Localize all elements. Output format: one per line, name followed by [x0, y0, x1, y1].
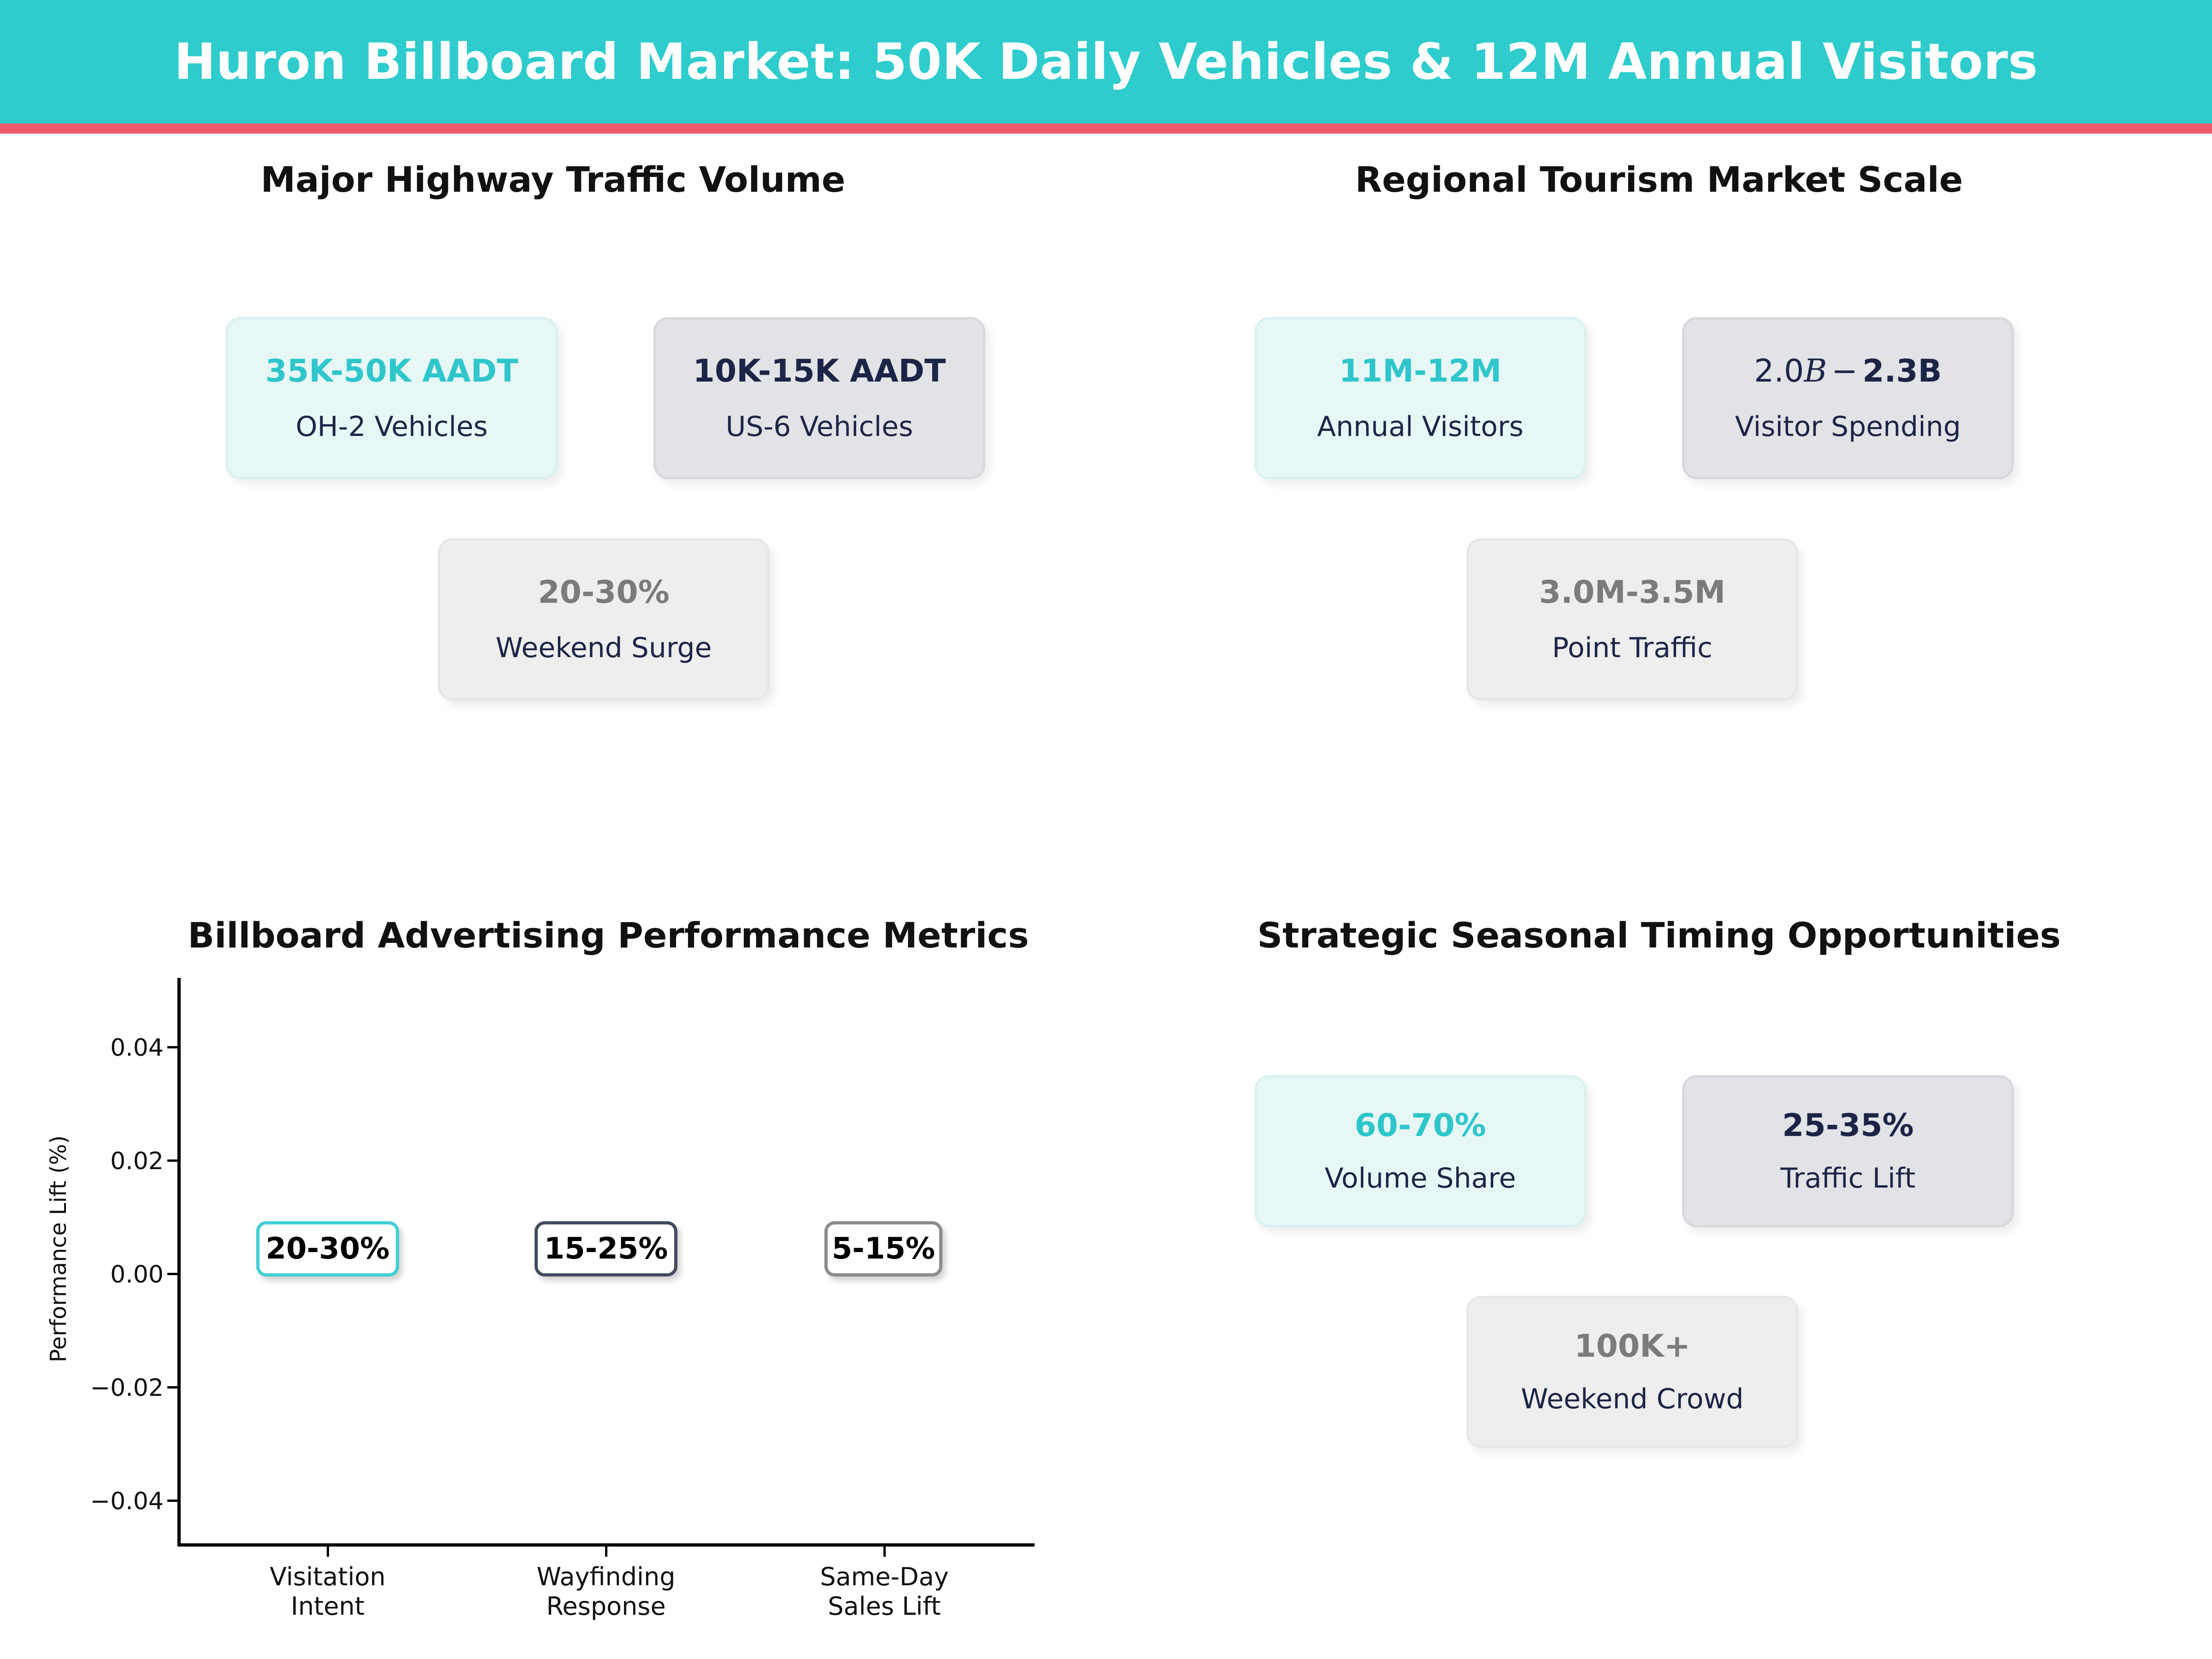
kpi-value: 10K-15K AADT [693, 355, 946, 388]
y-tick-label: −0.04 [44, 1488, 164, 1515]
chart-y-axis-spine [177, 978, 181, 1546]
header-divider [0, 124, 2212, 134]
x-tick-label-line1: Visitation [185, 1562, 471, 1592]
chart-x-axis-spine [177, 1543, 1035, 1547]
kpi-label: OH-2 Vehicles [295, 412, 488, 441]
kpi-card-visitor-spending[interactable]: 2.0B−2.3B Visitor Spending [1682, 317, 2014, 479]
kpi-card-point-traffic[interactable]: 3.0M-3.5M Point Traffic [1466, 538, 1798, 700]
x-tick-label-visitation-intent: Visitation Intent [185, 1562, 471, 1621]
kpi-value-dash: − [1827, 353, 1862, 389]
kpi-value: 35K-50K AADT [265, 355, 518, 388]
chart-annotation-visitation-intent[interactable]: 20-30% [256, 1221, 399, 1277]
page-title: Huron Billboard Market: 50K Daily Vehicl… [0, 0, 2212, 124]
y-tick-mark [167, 1500, 177, 1502]
x-tick-label-line2: Sales Lift [741, 1592, 1027, 1621]
kpi-value: 3.0M-3.5M [1539, 576, 1725, 609]
kpi-value-italic: B [1804, 353, 1827, 389]
kpi-label: Volume Share [1324, 1164, 1516, 1193]
kpi-card-oh2-vehicles[interactable]: 35K-50K AADT OH-2 Vehicles [226, 317, 558, 479]
kpi-card-weekend-surge[interactable]: 20-30% Weekend Surge [438, 538, 770, 700]
x-tick-label-line1: Wayfinding [463, 1562, 749, 1592]
kpi-card-annual-visitors[interactable]: 11M-12M Annual Visitors [1254, 317, 1586, 479]
y-tick-label: 0.00 [44, 1261, 164, 1288]
kpi-label: Weekend Surge [495, 634, 712, 663]
x-tick-label-line2: Intent [185, 1592, 471, 1621]
y-tick-label: 0.02 [44, 1147, 164, 1175]
x-tick-label-same-day-sales-lift: Same-Day Sales Lift [741, 1562, 1027, 1621]
kpi-value: 2.0B−2.3B [1754, 355, 1941, 388]
kpi-value-bold: 2.3B [1862, 353, 1941, 389]
kpi-label: Annual Visitors [1317, 412, 1524, 441]
kpi-label: Traffic Lift [1780, 1164, 1915, 1193]
chart-annotation-same-day-sales-lift[interactable]: 5-15% [824, 1221, 942, 1277]
x-tick-label-line2: Response [463, 1592, 749, 1621]
y-tick-mark [167, 1159, 177, 1162]
kpi-label: Weekend Crowd [1521, 1385, 1743, 1414]
panel-title-highway-traffic: Major Highway Traffic Volume [0, 159, 1106, 200]
kpi-value: 60-70% [1354, 1109, 1486, 1142]
kpi-card-volume-share[interactable]: 60-70% Volume Share [1254, 1075, 1586, 1227]
kpi-card-weekend-crowd[interactable]: 100K+ Weekend Crowd [1466, 1296, 1798, 1448]
kpi-card-us6-vehicles[interactable]: 10K-15K AADT US-6 Vehicles [653, 317, 985, 479]
kpi-value: 25-35% [1782, 1109, 1914, 1142]
kpi-value: 100K+ [1574, 1330, 1690, 1363]
kpi-value: 11M-12M [1339, 355, 1502, 388]
kpi-label: Point Traffic [1552, 634, 1712, 663]
kpi-value: 20-30% [538, 576, 670, 609]
x-tick-mark [883, 1547, 886, 1557]
panel-title-seasonal-timing: Strategic Seasonal Timing Opportunities [1106, 915, 2212, 956]
y-tick-label: 0.04 [44, 1034, 164, 1062]
chart-y-axis-label: Performance Lift (%) [0, 1235, 234, 1263]
kpi-value-plain: 2.0 [1754, 353, 1804, 389]
x-tick-mark [605, 1547, 607, 1557]
kpi-card-traffic-lift[interactable]: 25-35% Traffic Lift [1682, 1075, 2014, 1227]
y-tick-label: −0.02 [44, 1374, 164, 1402]
kpi-label: Visitor Spending [1735, 412, 1961, 441]
y-tick-mark [167, 1046, 177, 1048]
panel-title-tourism-market: Regional Tourism Market Scale [1106, 159, 2212, 200]
x-tick-label-line1: Same-Day [741, 1562, 1027, 1592]
kpi-label: US-6 Vehicles [726, 412, 913, 441]
y-tick-mark [167, 1273, 177, 1275]
chart-annotation-wayfinding-response[interactable]: 15-25% [535, 1221, 677, 1277]
x-tick-label-wayfinding-response: Wayfinding Response [463, 1562, 749, 1621]
panel-title-performance-metrics: Billboard Advertising Performance Metric… [0, 915, 1217, 956]
y-tick-mark [167, 1386, 177, 1388]
x-tick-mark [327, 1547, 329, 1557]
